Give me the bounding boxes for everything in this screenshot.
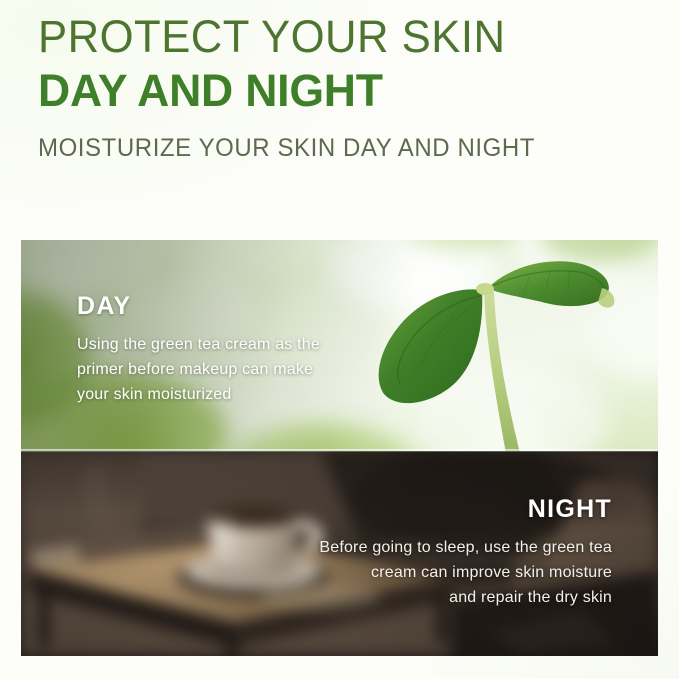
page-title-line1: PROTECT YOUR SKIN	[38, 12, 630, 62]
day-body-line-1: Using the green tea cream as the	[77, 332, 407, 357]
night-body-line-2: cream can improve skin moisture	[212, 560, 612, 585]
panel-night: NIGHT Before going to sleep, use the gre…	[21, 451, 658, 656]
night-text-block: NIGHT Before going to sleep, use the gre…	[212, 495, 612, 610]
page-subtitle: MOISTURIZE YOUR SKIN DAY AND NIGHT	[38, 133, 624, 163]
day-body-line-3: your skin moisturized	[77, 382, 407, 407]
header: PROTECT YOUR SKIN DAY AND NIGHT MOISTURI…	[38, 12, 648, 163]
page-title-line2: DAY AND NIGHT	[38, 65, 642, 117]
day-label: DAY	[77, 292, 407, 321]
day-body-line-2: primer before makeup can make	[77, 357, 407, 382]
day-body: Using the green tea cream as the primer …	[77, 332, 407, 407]
panel-group: DAY Using the green tea cream as the pri…	[21, 240, 658, 656]
day-text-block: DAY Using the green tea cream as the pri…	[77, 292, 407, 407]
panel-divider	[21, 449, 658, 452]
panel-day: DAY Using the green tea cream as the pri…	[21, 240, 658, 451]
night-body: Before going to sleep, use the green tea…	[212, 535, 612, 610]
night-body-line-1: Before going to sleep, use the green tea	[212, 535, 612, 560]
night-label: NIGHT	[212, 495, 612, 524]
marketing-banner: PROTECT YOUR SKIN DAY AND NIGHT MOISTURI…	[0, 0, 679, 679]
night-body-line-3: and repair the dry skin	[212, 585, 612, 610]
